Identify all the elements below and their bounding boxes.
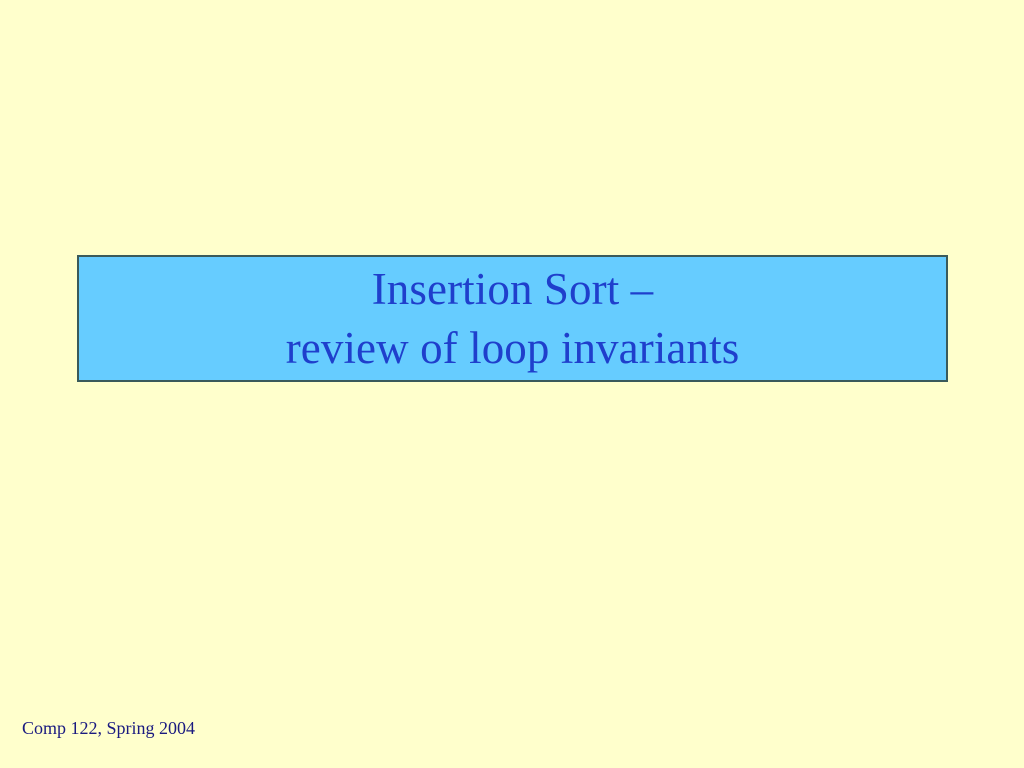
title-line-primary: Insertion Sort – xyxy=(372,261,654,318)
title-line-secondary: review of loop invariants xyxy=(286,320,740,377)
slide-footer: Comp 122, Spring 2004 xyxy=(22,717,195,739)
title-box[interactable]: Insertion Sort – review of loop invarian… xyxy=(77,255,948,382)
presentation-slide: Insertion Sort – review of loop invarian… xyxy=(0,0,1024,768)
